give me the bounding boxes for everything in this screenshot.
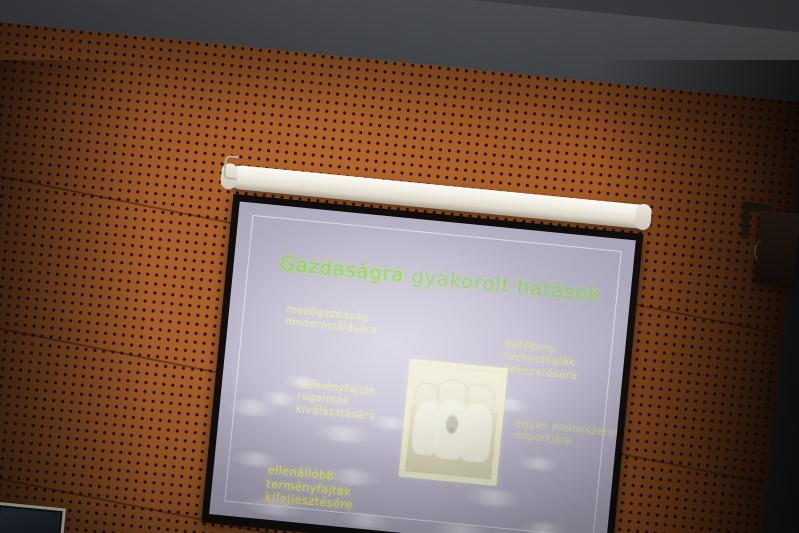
roller-mount-bracket: [223, 155, 239, 180]
framed-panel-inner: [0, 507, 61, 533]
cattle-photo-overexposure: [405, 365, 501, 479]
screen-black-border: Gazdaságra gyakorolt hatások mezőgazdasá…: [201, 194, 643, 533]
projection-screen-assembly: Gazdaságra gyakorolt hatások mezőgazdasá…: [201, 168, 652, 533]
slide-cattle-photo: [399, 359, 508, 486]
cattle-photo-inner: [405, 365, 501, 479]
projection-surface: Gazdaságra gyakorolt hatások mezőgazdasá…: [209, 202, 636, 533]
photo-scene: Gazdaságra gyakorolt hatások mezőgazdasá…: [0, 0, 799, 533]
roller-end-cap-right: [634, 203, 652, 230]
